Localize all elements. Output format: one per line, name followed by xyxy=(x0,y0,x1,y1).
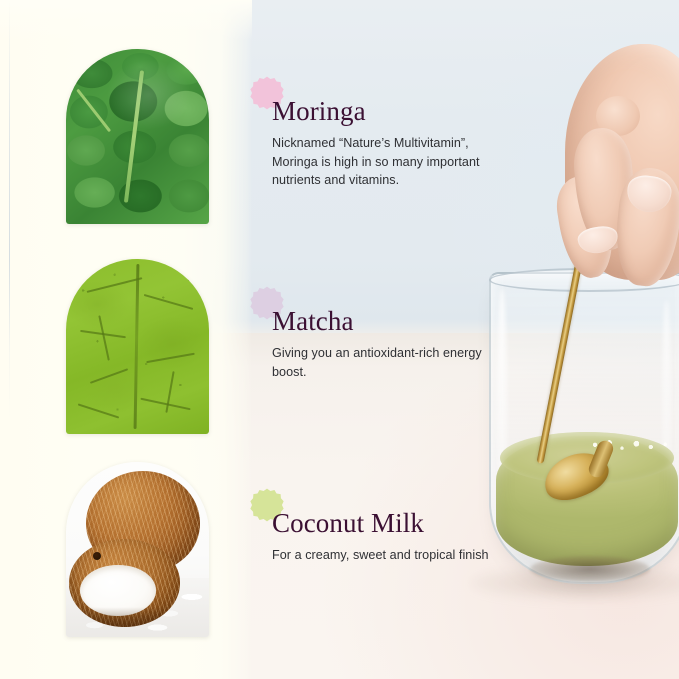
matcha-powder-photo xyxy=(66,259,209,434)
ingredient-description: For a creamy, sweet and tropical finish xyxy=(250,537,518,564)
ingredient-block-matcha: Matcha Giving you an antioxidant-rich en… xyxy=(250,286,518,381)
leaf-sheen xyxy=(66,49,209,224)
panel-top-fade xyxy=(0,0,252,40)
moringa-leaves-photo xyxy=(66,49,209,224)
ingredient-title: Moringa xyxy=(250,76,518,125)
glass-base-shadow xyxy=(530,556,650,582)
ingredient-block-coconut-milk: Coconut Milk For a creamy, sweet and tro… xyxy=(250,488,518,565)
coconut-rim-shadow xyxy=(69,607,181,626)
ingredient-description: Nicknamed “Nature’s Multivitamin”, Morin… xyxy=(250,125,518,189)
ingredient-title: Matcha xyxy=(250,286,518,335)
panel-edge-line xyxy=(9,0,10,679)
ingredient-title: Coconut Milk xyxy=(250,488,518,537)
coconut-half-front xyxy=(69,539,181,627)
ingredient-block-moringa: Moringa Nicknamed “Nature’s Multivitamin… xyxy=(250,76,518,189)
coconut-photo xyxy=(66,462,209,637)
ingredient-infographic: Moringa Nicknamed “Nature’s Multivitamin… xyxy=(0,0,679,679)
hand-fade xyxy=(560,252,679,302)
ingredient-description: Giving you an antioxidant-rich energy bo… xyxy=(250,335,518,381)
